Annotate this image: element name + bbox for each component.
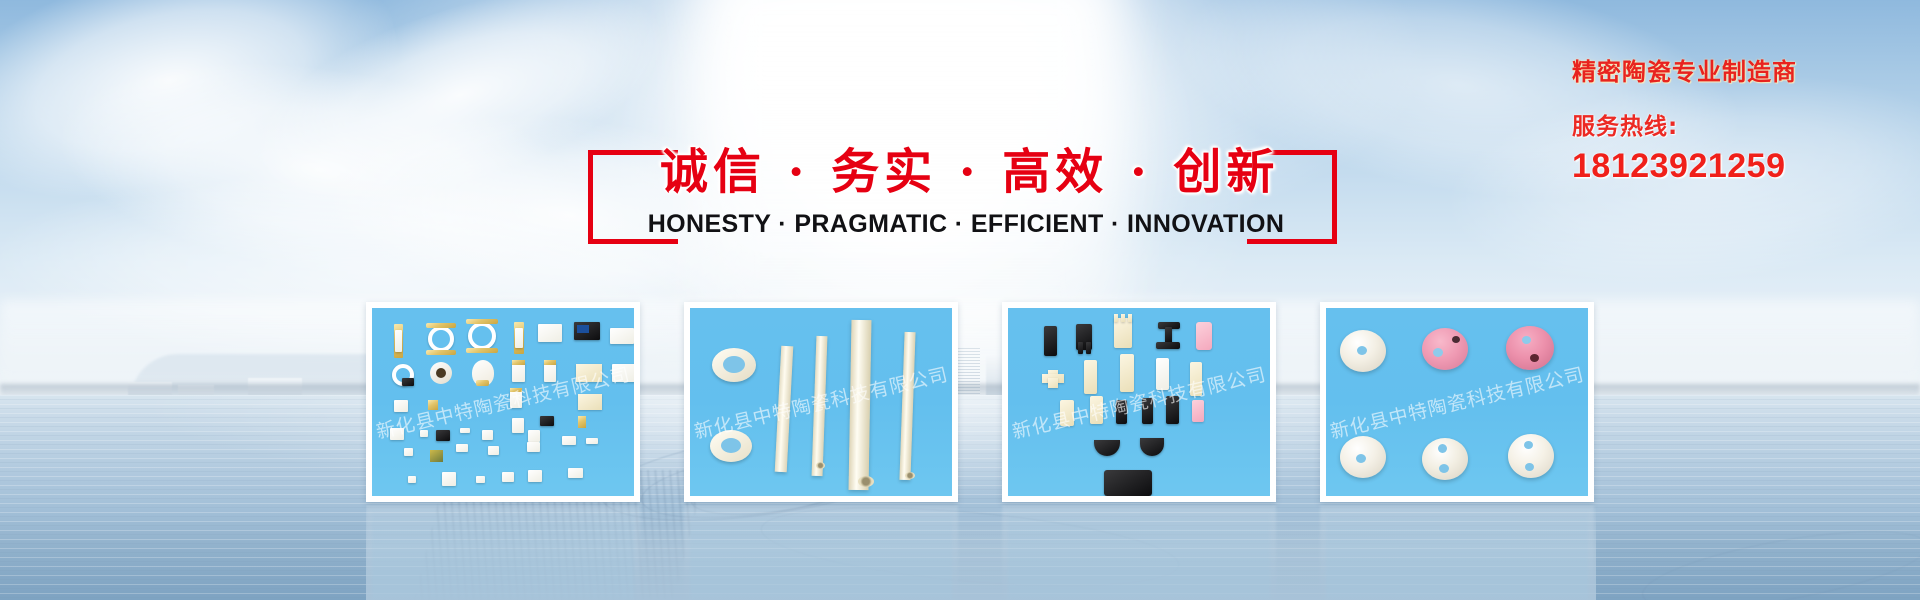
product-part — [466, 319, 498, 324]
product-part — [1192, 400, 1204, 422]
ceramic-tube — [812, 336, 828, 476]
disc-hole — [1524, 441, 1533, 449]
product-part — [428, 326, 454, 352]
product-image-1: 新化县中特陶瓷科技有限公司 — [372, 308, 634, 496]
product-panel-group: 新化县中特陶瓷科技有限公司 新化县中特陶瓷科技有限公司 — [366, 302, 1596, 502]
disc-hole — [1438, 444, 1447, 453]
product-part — [476, 476, 485, 483]
ceramic-tube — [775, 346, 794, 472]
product-part — [528, 470, 542, 482]
product-part — [1078, 342, 1083, 354]
product-part — [1086, 342, 1091, 354]
product-part — [456, 444, 468, 452]
ceramic-tube — [899, 332, 915, 480]
product-part — [1048, 378, 1058, 388]
product-part — [512, 360, 525, 365]
product-part — [1044, 326, 1057, 356]
product-part — [578, 416, 586, 428]
disc-hole — [1530, 354, 1539, 362]
product-part — [1094, 440, 1120, 456]
tube-bore — [816, 462, 825, 469]
product-part — [394, 400, 408, 412]
product-part — [544, 360, 556, 365]
product-part — [512, 418, 524, 433]
product-part — [1156, 358, 1169, 390]
product-part — [586, 438, 598, 444]
product-part — [402, 378, 414, 386]
tube-bore — [858, 476, 874, 487]
product-part — [576, 364, 602, 382]
product-panel-3[interactable]: 新化县中特陶瓷科技有限公司 — [1002, 302, 1276, 502]
ceramic-disc — [1508, 434, 1554, 478]
disc-hole — [1439, 464, 1449, 473]
product-part — [1114, 318, 1132, 348]
product-part — [1165, 327, 1172, 343]
product-part — [568, 468, 583, 478]
hotline-number[interactable]: 18123921259 — [1572, 147, 1912, 186]
reflection-fade — [366, 505, 1596, 600]
product-part — [430, 450, 443, 462]
product-part — [1128, 314, 1132, 322]
product-part — [538, 324, 562, 342]
ceramic-tube — [849, 320, 872, 490]
disc-hole — [1525, 463, 1534, 471]
product-part — [420, 430, 428, 437]
product-part — [512, 362, 525, 382]
product-part — [408, 476, 416, 483]
product-part — [610, 328, 634, 344]
product-part — [1121, 314, 1125, 322]
product-panel-4[interactable]: 新化县中特陶瓷科技有限公司 — [1320, 302, 1594, 502]
product-part — [1140, 438, 1164, 456]
product-part — [395, 330, 402, 352]
hero-banner: 诚信 · 务实 · 高效 · 创新 HONESTY · PRAGMATIC · … — [0, 0, 1920, 600]
ceramic-disc — [1506, 326, 1554, 370]
product-part — [1156, 342, 1180, 349]
product-part — [436, 368, 446, 378]
product-part — [488, 446, 499, 455]
product-part — [1196, 322, 1212, 350]
product-part — [515, 328, 523, 348]
slogan-english: HONESTY · PRAGMATIC · EFFICIENT · INNOVA… — [636, 210, 1296, 239]
product-part — [466, 348, 498, 353]
ceramic-disc — [1422, 328, 1468, 370]
product-part — [426, 350, 456, 355]
product-part — [428, 400, 438, 410]
product-part — [390, 428, 404, 440]
product-part — [540, 416, 554, 426]
product-part — [1142, 398, 1153, 424]
product-image-4: 新化县中特陶瓷科技有限公司 — [1326, 308, 1588, 496]
product-part — [578, 394, 602, 410]
contact-block: 精密陶瓷专业制造商 服务热线: 18123921259 — [1572, 52, 1912, 186]
slogan-block: 诚信 · 务实 · 高效 · 创新 HONESTY · PRAGMATIC · … — [0, 132, 1400, 252]
disc-hole — [1433, 348, 1443, 357]
product-panel-2[interactable]: 新化县中特陶瓷科技有限公司 — [684, 302, 958, 502]
product-part — [527, 442, 540, 452]
panel-watermark: 新化县中特陶瓷科技有限公司 — [1327, 360, 1586, 445]
product-part — [436, 430, 450, 441]
panel-reflections — [366, 505, 1596, 600]
product-part — [442, 472, 456, 486]
product-part — [460, 428, 470, 433]
product-part — [528, 430, 540, 442]
product-part — [482, 430, 493, 440]
tube-bore — [905, 472, 915, 479]
product-part — [562, 436, 576, 445]
product-part — [1166, 396, 1179, 424]
product-part — [510, 390, 522, 408]
product-panel-1[interactable]: 新化县中特陶瓷科技有限公司 — [366, 302, 640, 502]
product-part — [1116, 400, 1127, 424]
product-part — [1060, 400, 1074, 426]
disc-hole — [1356, 454, 1366, 463]
product-part — [1190, 362, 1202, 396]
product-part — [502, 472, 514, 482]
product-part — [612, 364, 634, 382]
product-part — [1120, 354, 1134, 392]
company-tagline: 精密陶瓷专业制造商 — [1572, 52, 1912, 87]
product-part — [426, 323, 456, 328]
product-part — [1084, 360, 1097, 394]
product-part — [1114, 314, 1118, 322]
product-image-3: 新化县中特陶瓷科技有限公司 — [1008, 308, 1270, 496]
disc-hole — [1357, 346, 1367, 355]
product-part — [577, 325, 589, 333]
product-part — [404, 448, 413, 456]
ring-hole — [723, 356, 745, 373]
product-part — [544, 362, 556, 382]
product-image-2: 新化县中特陶瓷科技有限公司 — [690, 308, 952, 496]
product-part — [476, 380, 489, 386]
product-part — [510, 388, 522, 392]
disc-hole — [1452, 336, 1460, 343]
product-part — [468, 322, 496, 350]
product-part — [1104, 470, 1152, 496]
slogan-chinese: 诚信 · 务实 · 高效 · 创新 — [660, 140, 1270, 204]
ring-hole — [721, 438, 741, 453]
disc-hole — [1522, 336, 1531, 344]
product-part — [1090, 396, 1103, 424]
hotline-label: 服务热线: — [1572, 107, 1912, 141]
